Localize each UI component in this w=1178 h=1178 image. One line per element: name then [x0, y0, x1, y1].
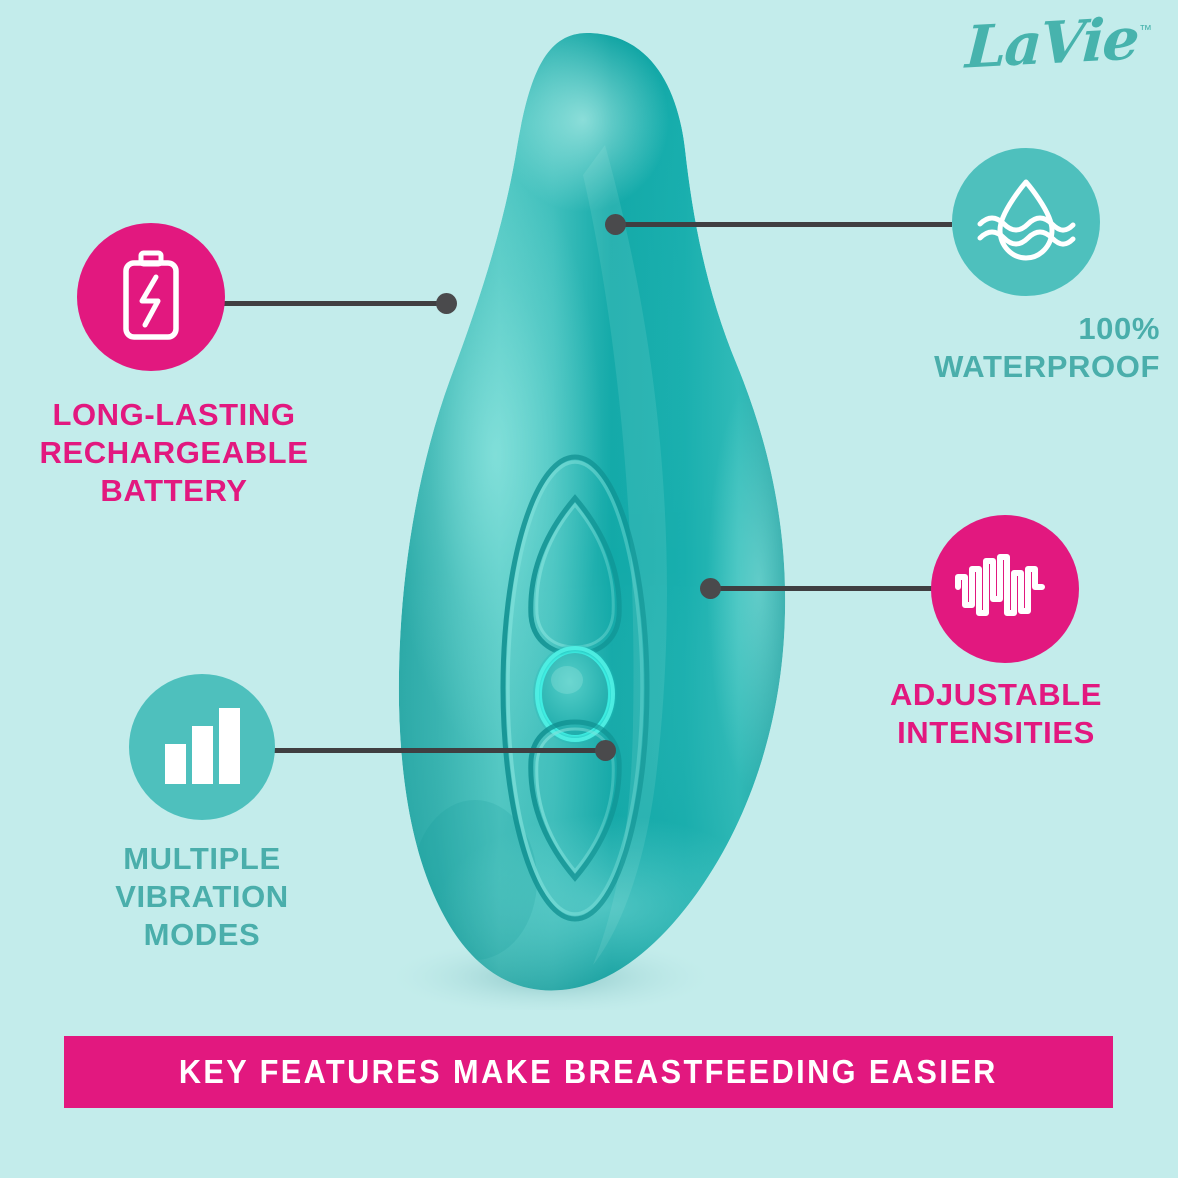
feature-label-vibration-modes: MULTIPLE VIBRATION MODES [52, 840, 352, 954]
brand-wordmark: LaVie [964, 10, 1139, 77]
leader-line-battery [222, 301, 454, 306]
feature-badge-rechargeable-battery[interactable] [77, 223, 225, 371]
feature-label-rechargeable-battery: LONG-LASTING RECHARGEABLE BATTERY [24, 396, 324, 510]
infographic-canvas: LaVie ™ [0, 0, 1178, 1178]
battery-icon [112, 249, 190, 346]
leader-line-waterproof [615, 222, 952, 227]
bar-chart-icon [159, 704, 245, 791]
feature-label-adjustable-intensities: ADJUSTABLE INTENSITIES [846, 676, 1146, 752]
product-image [355, 25, 815, 1010]
leader-dot-waterproof [605, 214, 626, 235]
leader-line-intensities [710, 586, 935, 591]
feature-badge-vibration-modes[interactable] [129, 674, 275, 820]
leader-line-modes [268, 748, 605, 753]
brand-logo: LaVie ™ [966, 14, 1152, 94]
feature-label-waterproof: 100% WATERPROOF [856, 310, 1160, 386]
banner-text: KEY FEATURES MAKE BREASTFEEDING EASIER [179, 1053, 998, 1091]
leader-dot-modes [595, 740, 616, 761]
feature-badge-waterproof[interactable] [952, 148, 1100, 296]
waveform-icon [953, 543, 1057, 636]
leader-dot-battery [436, 293, 457, 314]
leader-dot-intensities [700, 578, 721, 599]
water-droplet-icon [974, 174, 1078, 271]
trademark-symbol: ™ [1139, 22, 1152, 37]
key-features-banner: KEY FEATURES MAKE BREASTFEEDING EASIER [64, 1036, 1113, 1108]
feature-badge-adjustable-intensities[interactable] [931, 515, 1079, 663]
